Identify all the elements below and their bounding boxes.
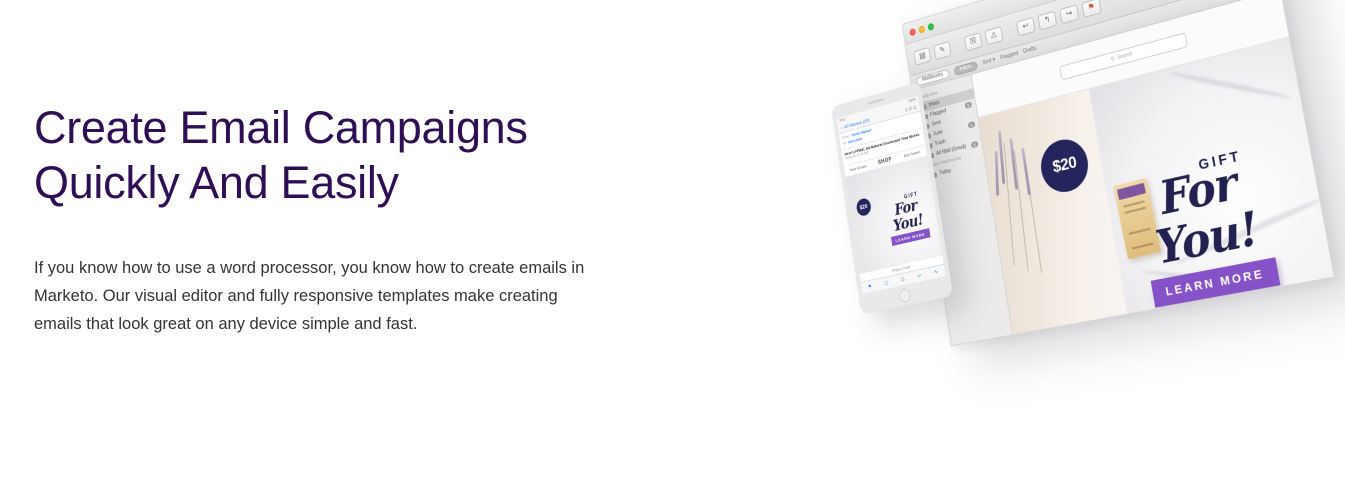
to-label: To: (843, 141, 848, 146)
compose-icon[interactable]: ✎ (934, 269, 939, 276)
search-placeholder: Search (1117, 50, 1133, 60)
compose-icon[interactable]: ✎ (933, 41, 951, 60)
desktop-mail-window: ▤ ✎ ☒ ⚠ ↩ ↰ ↪ ⚑ Inbox (11 messages) Mail… (902, 0, 1336, 346)
toolbar-separator-2 (1007, 30, 1013, 32)
close-window-icon[interactable] (909, 28, 916, 36)
filter-flagged[interactable]: Flagged (1000, 50, 1019, 61)
reply-all-icon[interactable]: ↰ (1037, 10, 1057, 30)
reply-icon[interactable]: ↩ (1016, 16, 1035, 36)
delete-icon[interactable]: ☒ (964, 32, 983, 51)
to-value[interactable]: Alice Kim (848, 137, 863, 145)
mobile-email-banner: $20 GIFT For You! LEARN MORE (845, 156, 942, 274)
nav-title: 1 of 11 (905, 104, 917, 112)
forward-icon[interactable]: ↪ (1059, 4, 1079, 24)
shop-nav-right[interactable]: Best Sellers (903, 150, 920, 158)
flag-icon[interactable]: ⚑ (1081, 0, 1101, 18)
perspective-stage: ▤ ✎ ☒ ⚠ ↩ ↰ ↪ ⚑ Inbox (11 messages) Mail… (840, 0, 1345, 478)
gift-copy-block: GIFT For You! LEARN MORE (1106, 137, 1308, 312)
search-icon: ⚲ (1110, 55, 1115, 62)
hero-description: If you know how to use a word processor,… (34, 254, 586, 338)
mailbox-toggle-icon[interactable]: ▤ (913, 46, 931, 65)
folder-icon[interactable]: ☐ (884, 280, 889, 287)
filter-sort[interactable]: Sort ▾ (982, 57, 995, 66)
home-button[interactable] (898, 288, 911, 303)
lavender-bud-icon (1021, 148, 1031, 195)
trash-icon[interactable]: ♺ (900, 276, 905, 283)
flag-icon[interactable]: ⚑ (868, 283, 873, 290)
lavender-bud-icon (995, 151, 999, 196)
sidebar-item-count: 5 (964, 101, 972, 109)
shop-nav-left[interactable]: New Arrivals (850, 164, 867, 172)
filter-drafts[interactable]: Drafts (1023, 45, 1037, 55)
phone-speaker (867, 98, 884, 105)
page-title: Create Email Campaigns Quickly And Easil… (34, 100, 634, 210)
shop-nav-main[interactable]: SHOP (878, 156, 893, 166)
marble-vein (1169, 70, 1292, 100)
sidebar-item-label: Junk (933, 129, 943, 137)
minimize-window-icon[interactable] (918, 25, 925, 33)
back-button[interactable]: ‹ (840, 125, 842, 130)
mobile-gift-copy: GIFT For You! LEARN MORE (880, 189, 936, 248)
mobile-discount-badge: $20 (855, 197, 871, 217)
hero-text-block: Create Email Campaigns Quickly And Easil… (34, 100, 634, 338)
email-campaign-illustration: ▤ ✎ ☒ ⚠ ↩ ↰ ↪ ⚑ Inbox (11 messages) Mail… (840, 0, 1345, 478)
reply-icon[interactable]: ↩ (917, 272, 922, 279)
sidebar-item-label: Sent (931, 120, 941, 128)
toolbar-separator (955, 45, 961, 47)
sidebar-item-count: 8 (970, 141, 978, 149)
junk-icon[interactable]: ⚠ (984, 26, 1003, 46)
zoom-window-icon[interactable] (927, 22, 934, 30)
traffic-lights (909, 22, 934, 36)
sidebar-item-label: Today (939, 168, 952, 177)
sidebar-item-count: 2 (967, 121, 975, 129)
